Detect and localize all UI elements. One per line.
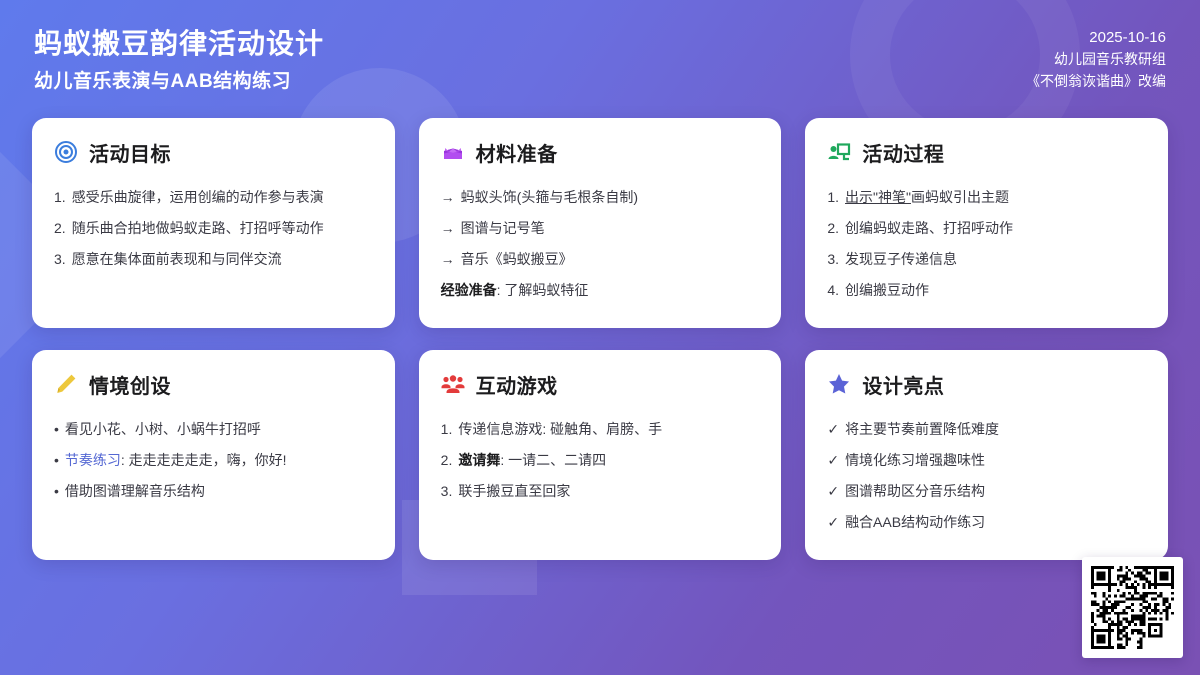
list-item: ✓ 将主要节奏前置降低难度 xyxy=(827,414,1146,445)
card-header: 活动目标 xyxy=(54,138,373,167)
list-marker: 2. xyxy=(54,218,66,239)
list-text-rest: : 一请二、二请四 xyxy=(500,452,606,468)
list-text: 愿意在集体面前表现和与同伴交流 xyxy=(72,249,373,270)
list-item: • 节奏练习: 走走走走走走，嗨，你好! xyxy=(54,445,373,476)
list-item: ✓ 融合AAB结构动作练习 xyxy=(827,507,1146,538)
note-label: 经验准备 xyxy=(441,282,497,298)
list-item: • 看见小花、小树、小蜗牛打招呼 xyxy=(54,414,373,445)
card-list: ✓ 将主要节奏前置降低难度 ✓ 情境化练习增强趣味性 ✓ 图谱帮助区分音乐结构 … xyxy=(827,414,1146,538)
list-item: 3. 联手搬豆直至回家 xyxy=(441,476,760,507)
list-marker: ✓ xyxy=(827,450,839,471)
card-header: 互动游戏 xyxy=(441,370,760,399)
list-text: 图谱帮助区分音乐结构 xyxy=(845,481,1146,502)
card-header: 材料准备 xyxy=(441,138,760,167)
list-text: 音乐《蚂蚁搬豆》 xyxy=(461,249,760,270)
card-interactive-games[interactable]: 互动游戏 1. 传递信息游戏: 碰触角、肩膀、手 2. 邀请舞: 一请二、二请四… xyxy=(419,350,782,560)
list-text: 借助图谱理解音乐结构 xyxy=(65,481,373,502)
list-marker: 2. xyxy=(827,218,839,239)
list-text: 发现豆子传递信息 xyxy=(845,249,1146,270)
card-list: → 蚂蚁头饰(头箍与毛根条自制) → 图谱与记号笔 → 音乐《蚂蚁搬豆》 xyxy=(441,182,760,275)
experience-note: 经验准备: 了解蚂蚁特征 xyxy=(441,275,760,306)
list-text: 邀请舞: 一请二、二请四 xyxy=(458,450,759,471)
list-item: → 蚂蚁头饰(头箍与毛根条自制) xyxy=(441,182,760,213)
people-group-icon xyxy=(441,372,465,396)
list-text-rest: : 走走走走走走，嗨，你好! xyxy=(121,452,287,468)
card-list: 1. 感受乐曲旋律，运用创编的动作参与表演 2. 随乐曲合拍地做蚂蚁走路、打招呼… xyxy=(54,182,373,275)
header-date: 2025-10-16 xyxy=(1026,26,1166,49)
card-scenario-design[interactable]: 情境创设 • 看见小花、小树、小蜗牛打招呼 • 节奏练习: 走走走走走走，嗨，你… xyxy=(32,350,395,560)
list-item: 1. 出示"神笔"画蚂蚁引出主题 xyxy=(827,182,1146,213)
list-marker: • xyxy=(54,450,59,471)
list-text: 联手搬豆直至回家 xyxy=(458,481,759,502)
list-text: 创编蚂蚁走路、打招呼动作 xyxy=(845,218,1146,239)
list-item: 1. 感受乐曲旋律，运用创编的动作参与表演 xyxy=(54,182,373,213)
list-text: 创编搬豆动作 xyxy=(845,280,1146,301)
list-item: 1. 传递信息游戏: 碰触角、肩膀、手 xyxy=(441,414,760,445)
pencil-icon xyxy=(54,372,78,396)
note-text: : 了解蚂蚁特征 xyxy=(497,282,589,298)
list-text: 将主要节奏前置降低难度 xyxy=(845,419,1146,440)
cards-grid: 活动目标 1. 感受乐曲旋律，运用创编的动作参与表演 2. 随乐曲合拍地做蚂蚁走… xyxy=(0,94,1200,560)
list-text: 传递信息游戏: 碰触角、肩膀、手 xyxy=(458,419,759,440)
list-item: • 借助图谱理解音乐结构 xyxy=(54,476,373,507)
header-meta: 2025-10-16 幼儿园音乐教研组 《不倒翁诙谐曲》改编 xyxy=(1026,26,1166,93)
list-item: 4. 创编搬豆动作 xyxy=(827,275,1146,306)
list-marker: 3. xyxy=(827,249,839,270)
qr-code-container[interactable] xyxy=(1082,557,1183,658)
list-text: 看见小花、小树、小蜗牛打招呼 xyxy=(65,419,373,440)
list-marker: 3. xyxy=(54,249,66,270)
list-item: ✓ 图谱帮助区分音乐结构 xyxy=(827,476,1146,507)
list-text: 感受乐曲旋律，运用创编的动作参与表演 xyxy=(72,187,373,208)
list-marker: 1. xyxy=(827,187,839,208)
list-item: 2. 随乐曲合拍地做蚂蚁走路、打招呼等动作 xyxy=(54,213,373,244)
card-title: 互动游戏 xyxy=(476,370,558,399)
card-list: 1. 传递信息游戏: 碰触角、肩膀、手 2. 邀请舞: 一请二、二请四 3. 联… xyxy=(441,414,760,507)
star-icon xyxy=(827,372,851,396)
card-title: 材料准备 xyxy=(476,138,558,167)
list-marker: 2. xyxy=(441,450,453,471)
list-marker: ✓ xyxy=(827,481,839,502)
card-list: 1. 出示"神笔"画蚂蚁引出主题 2. 创编蚂蚁走路、打招呼动作 3. 发现豆子… xyxy=(827,182,1146,306)
gift-box-icon xyxy=(441,140,465,164)
card-list: • 看见小花、小树、小蜗牛打招呼 • 节奏练习: 走走走走走走，嗨，你好! • … xyxy=(54,414,373,507)
header-source: 《不倒翁诙谐曲》改编 xyxy=(1026,71,1166,93)
card-title: 情境创设 xyxy=(89,370,171,399)
card-header: 活动过程 xyxy=(827,138,1146,167)
list-marker: 1. xyxy=(54,187,66,208)
card-activity-process[interactable]: 活动过程 1. 出示"神笔"画蚂蚁引出主题 2. 创编蚂蚁走路、打招呼动作 3.… xyxy=(805,118,1168,328)
list-text: 出示"神笔"画蚂蚁引出主题 xyxy=(845,187,1146,208)
list-marker: 4. xyxy=(827,280,839,301)
title-block: 蚂蚁搬豆韵律活动设计 幼儿音乐表演与AAB结构练习 xyxy=(34,26,324,94)
page-subtitle: 幼儿音乐表演与AAB结构练习 xyxy=(34,70,324,94)
card-materials[interactable]: 材料准备 → 蚂蚁头饰(头箍与毛根条自制) → 图谱与记号笔 → 音乐《蚂蚁搬豆… xyxy=(419,118,782,328)
list-item: → 音乐《蚂蚁搬豆》 xyxy=(441,244,760,275)
list-item: 3. 愿意在集体面前表现和与同伴交流 xyxy=(54,244,373,275)
card-design-highlights[interactable]: 设计亮点 ✓ 将主要节奏前置降低难度 ✓ 情境化练习增强趣味性 ✓ 图谱帮助区分… xyxy=(805,350,1168,560)
list-text: 节奏练习: 走走走走走走，嗨，你好! xyxy=(65,450,373,471)
list-item: → 图谱与记号笔 xyxy=(441,213,760,244)
header-org: 幼儿园音乐教研组 xyxy=(1026,49,1166,71)
list-item: 3. 发现豆子传递信息 xyxy=(827,244,1146,275)
qr-code[interactable] xyxy=(1091,566,1174,649)
list-text-rest: 画蚂蚁引出主题 xyxy=(911,189,1009,205)
list-marker: • xyxy=(54,419,59,440)
list-text: 图谱与记号笔 xyxy=(461,218,760,239)
list-item: 2. 邀请舞: 一请二、二请四 xyxy=(441,445,760,476)
list-marker: • xyxy=(54,481,59,502)
card-title: 活动目标 xyxy=(89,138,171,167)
target-icon xyxy=(54,140,78,164)
list-text-highlight: 节奏练习 xyxy=(65,452,121,468)
list-marker: ✓ xyxy=(827,419,839,440)
list-marker: ✓ xyxy=(827,512,839,533)
list-marker: 3. xyxy=(441,481,453,502)
list-marker: → xyxy=(441,187,455,208)
list-text-bold: 邀请舞 xyxy=(458,452,500,468)
list-text-underlined: 出示"神笔" xyxy=(845,189,911,205)
list-text: 蚂蚁头饰(头箍与毛根条自制) xyxy=(461,187,760,208)
card-title: 活动过程 xyxy=(862,138,944,167)
list-text: 融合AAB结构动作练习 xyxy=(845,512,1146,533)
list-marker: → xyxy=(441,218,455,239)
card-header: 情境创设 xyxy=(54,370,373,399)
list-text: 随乐曲合拍地做蚂蚁走路、打招呼等动作 xyxy=(72,218,373,239)
card-activity-goals[interactable]: 活动目标 1. 感受乐曲旋律，运用创编的动作参与表演 2. 随乐曲合拍地做蚂蚁走… xyxy=(32,118,395,328)
list-marker: 1. xyxy=(441,419,453,440)
page-title: 蚂蚁搬豆韵律活动设计 xyxy=(34,26,324,61)
presentation-icon xyxy=(827,140,851,164)
list-text: 情境化练习增强趣味性 xyxy=(845,450,1146,471)
card-title: 设计亮点 xyxy=(862,370,944,399)
list-marker: → xyxy=(441,249,455,270)
page-header: 蚂蚁搬豆韵律活动设计 幼儿音乐表演与AAB结构练习 2025-10-16 幼儿园… xyxy=(0,0,1200,94)
card-header: 设计亮点 xyxy=(827,370,1146,399)
list-item: 2. 创编蚂蚁走路、打招呼动作 xyxy=(827,213,1146,244)
list-item: ✓ 情境化练习增强趣味性 xyxy=(827,445,1146,476)
